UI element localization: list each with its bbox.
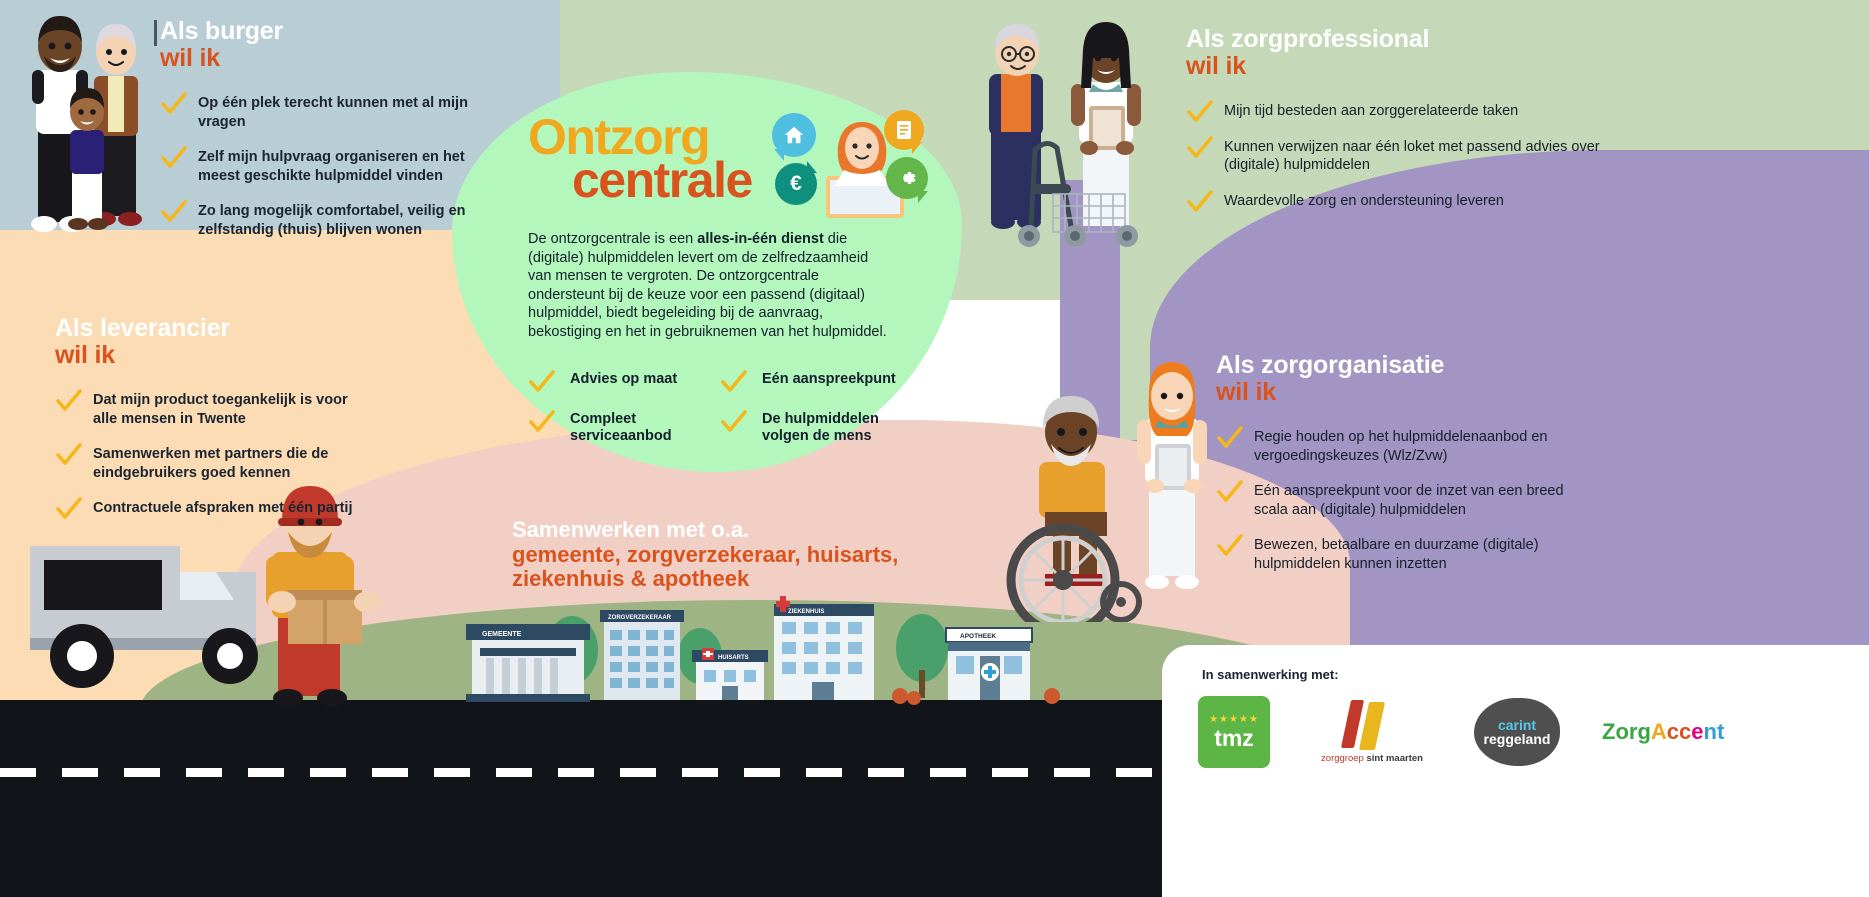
brand-title: Ontzorg centrale — [528, 116, 920, 202]
section-subtitle-text: wil ik — [55, 342, 375, 369]
logo-zorgaccent[interactable]: ZorgAccent — [1602, 697, 1724, 767]
zorgaccent-part-2: A — [1651, 719, 1667, 745]
section-zorgprofessional: Als zorgprofessional wil ik Mijn tijd be… — [1186, 26, 1606, 227]
benefit-label: Eén aanspreekpunt — [762, 371, 896, 387]
euro-icon: € — [790, 172, 802, 196]
check-icon — [55, 443, 83, 467]
section-subtitle-text: wil ik — [160, 45, 490, 72]
leverancier-checklist: Dat mijn product toegankelijk is voor al… — [55, 391, 375, 518]
section-title-zorgorganisatie: Als zorgorganisatie wil ik — [1216, 352, 1596, 406]
tmz-stars: ★★★★★ — [1209, 715, 1259, 725]
list-item: Dat mijn product toegankelijk is voor al… — [55, 391, 375, 428]
sint-maarten-line-2: sint maarten — [1366, 753, 1423, 764]
care-professional-illustration — [975, 20, 1190, 260]
svg-text:ZORGVERZEKERAAR: ZORGVERZEKERAAR — [608, 615, 672, 621]
check-icon — [160, 92, 188, 116]
list-item-label: Dat mijn product toegankelijk is voor al… — [93, 392, 348, 427]
carint-line-1: carint — [1498, 718, 1536, 732]
check-icon — [720, 410, 748, 434]
list-item-label: Mijn tijd besteden aan zorggerelateerde … — [1224, 103, 1518, 119]
svg-text:APOTHEEK: APOTHEEK — [960, 633, 996, 640]
check-icon — [1186, 100, 1214, 124]
list-item-label: Zelf mijn hulpvraag organiseren en het m… — [198, 149, 465, 184]
gear-icon-bubble — [886, 157, 928, 199]
check-icon — [160, 200, 188, 224]
section-title-text: Als zorgorganisatie — [1216, 351, 1444, 379]
check-icon — [1186, 136, 1214, 160]
collaboration-line-1: Samenwerken met o.a. — [512, 518, 942, 543]
home-icon-bubble — [772, 113, 816, 157]
center-benefits-grid: Advies op maat Eén aanspreekpunt Complee… — [528, 371, 920, 445]
partner-bar: In samenwerking met: ★★★★★ tmz zorggroep… — [1162, 645, 1869, 897]
partner-logos: ★★★★★ tmz zorggroep sint maarten carint … — [1198, 697, 1724, 767]
brand-line-2: centrale — [528, 159, 920, 202]
logo-carint-reggeland[interactable]: carint reggeland — [1474, 697, 1560, 767]
central-content: Ontzorg centrale De ontzorgcentrale is e… — [528, 116, 920, 445]
euro-icon-bubble: € — [775, 163, 817, 205]
road-dash — [186, 768, 222, 777]
section-burger: Als burger wil ik Op één plek terecht ku… — [160, 18, 490, 256]
list-item-label: Regie houden op het hulpmiddelenaanbod e… — [1254, 429, 1547, 464]
collaboration-heading: Samenwerken met o.a. gemeente, zorgverze… — [512, 518, 942, 592]
section-title-zorgprofessional: Als zorgprofessional wil ik — [1186, 26, 1606, 80]
section-title-text: Als leverancier — [55, 314, 230, 342]
road-dash — [620, 768, 656, 777]
road-dash — [868, 768, 904, 777]
check-icon — [528, 410, 556, 434]
care-organisation-illustration — [1005, 352, 1225, 622]
list-item: Waardevolle zorg en ondersteuning levere… — [1186, 192, 1606, 211]
list-item: Regie houden op het hulpmiddelenaanbod e… — [1216, 428, 1596, 465]
road-dash — [248, 768, 284, 777]
zorgaccent-part-1: Zorg — [1602, 719, 1651, 745]
list-item: Zelf mijn hulpvraag organiseren en het m… — [160, 148, 490, 185]
section-title-text: Als zorgprofessional — [1186, 25, 1429, 53]
document-icon — [895, 120, 913, 140]
list-item-label: Op één plek terecht kunnen met al mijn v… — [198, 95, 468, 130]
section-leverancier: Als leverancier wil ik Dat mijn product … — [55, 315, 375, 535]
list-item: Samenwerken met partners die de eindgebr… — [55, 445, 375, 482]
benefit-item: Advies op maat — [528, 371, 720, 388]
road-dash — [434, 768, 470, 777]
list-item-label: Waardevolle zorg en ondersteuning levere… — [1224, 193, 1504, 209]
check-icon — [55, 389, 83, 413]
burger-checklist: Op één plek terecht kunnen met al mijn v… — [160, 94, 490, 239]
road-dash — [62, 768, 98, 777]
logo-zorggroep-sint-maarten[interactable]: zorggroep sint maarten — [1312, 697, 1432, 767]
carint-line-2: reggeland — [1484, 732, 1551, 746]
svg-text:ZIEKENHUIS: ZIEKENHUIS — [788, 609, 824, 615]
road-dash — [682, 768, 718, 777]
town-illustration: GEMEENTE ZORGVERZEKERAAR HUISARTS ZIEKEN… — [452, 590, 1072, 712]
section-zorgorganisatie: Als zorgorganisatie wil ik Regie houden … — [1216, 352, 1596, 590]
paragraph-bold: alles-in-één dienst — [697, 231, 824, 247]
check-icon — [1216, 426, 1244, 450]
zorgorganisatie-checklist: Regie houden op het hulpmiddelenaanbod e… — [1216, 428, 1596, 573]
list-item-label: Zo lang mogelijk comfortabel, veilig en … — [198, 203, 466, 238]
benefit-item: De hulpmiddelen volgen de mens — [720, 411, 900, 446]
road-dash — [496, 768, 532, 777]
check-icon — [1186, 190, 1214, 214]
section-title-leverancier: Als leverancier wil ik — [55, 315, 375, 369]
sint-maarten-wordmark: zorggroep sint maarten — [1321, 753, 1423, 764]
title-accent-bar — [154, 20, 157, 46]
sint-maarten-line-1: zorggroep — [1321, 753, 1364, 764]
check-icon — [528, 370, 556, 394]
benefit-item: Compleet serviceaanbod — [528, 411, 720, 446]
check-icon — [160, 146, 188, 170]
list-item-label: Bewezen, betaalbare en duurzame (digital… — [1254, 537, 1539, 572]
partner-caption: In samenwerking met: — [1202, 667, 1339, 682]
gear-icon — [896, 167, 918, 189]
list-item-label: Kunnen verwijzen naar één loket met pass… — [1224, 139, 1600, 174]
road-dash — [992, 768, 1028, 777]
svg-text:GEMEENTE: GEMEENTE — [482, 631, 522, 638]
list-item-label: Contractuele afspraken met één partij — [93, 500, 352, 516]
road-dash — [0, 768, 36, 777]
collaboration-line-3: ziekenhuis & apotheek — [512, 567, 942, 592]
benefit-label: Compleet serviceaanbod — [570, 411, 672, 444]
road-dash — [930, 768, 966, 777]
zorgaccent-part-5: nt — [1704, 719, 1725, 745]
road-dash — [310, 768, 346, 777]
zorgaccent-part-4: e — [1691, 719, 1703, 745]
list-item: Bewezen, betaalbare en duurzame (digital… — [1216, 536, 1596, 573]
svg-text:HUISARTS: HUISARTS — [718, 655, 749, 661]
list-item: Contractuele afspraken met één partij — [55, 499, 375, 518]
home-icon — [783, 124, 805, 146]
paragraph-part-2: die (digitale) hulpmiddelen levert om de… — [528, 231, 887, 340]
benefit-label: De hulpmiddelen volgen de mens — [762, 411, 879, 444]
sint-maarten-mark — [1342, 700, 1402, 750]
list-item: Eén aanspreekpunt voor de inzet van een … — [1216, 482, 1596, 519]
collaboration-line-2: gemeente, zorgverzekeraar, huisarts, — [512, 543, 942, 568]
list-item-label: Eén aanspreekpunt voor de inzet van een … — [1254, 483, 1564, 518]
zorgaccent-part-3: cc — [1667, 719, 1691, 745]
tmz-wordmark: tmz — [1214, 727, 1254, 750]
road-dash — [558, 768, 594, 777]
list-item-label: Samenwerken met partners die de eindgebr… — [93, 446, 328, 481]
family-illustration — [14, 12, 164, 238]
list-item: Kunnen verwijzen naar één loket met pass… — [1186, 138, 1606, 175]
check-icon — [720, 370, 748, 394]
section-title-text: Als burger — [160, 17, 283, 45]
zorgprofessional-checklist: Mijn tijd besteden aan zorggerelateerde … — [1186, 102, 1606, 210]
section-subtitle-text: wil ik — [1186, 53, 1606, 80]
benefit-item: Eén aanspreekpunt — [720, 371, 900, 388]
benefit-label: Advies op maat — [570, 371, 677, 387]
center-paragraph: De ontzorgcentrale is een alles-in-één d… — [528, 230, 888, 341]
logo-tmz[interactable]: ★★★★★ tmz — [1198, 697, 1270, 767]
road-dash — [372, 768, 408, 777]
check-icon — [1216, 480, 1244, 504]
road-dash — [806, 768, 842, 777]
road-dash — [1116, 768, 1152, 777]
road-dash — [124, 768, 160, 777]
list-item: Zo lang mogelijk comfortabel, veilig en … — [160, 202, 490, 239]
list-item: Mijn tijd besteden aan zorggerelateerde … — [1186, 102, 1606, 121]
list-item: Op één plek terecht kunnen met al mijn v… — [160, 94, 490, 131]
check-icon — [1216, 534, 1244, 558]
check-icon — [55, 497, 83, 521]
section-subtitle-text: wil ik — [1216, 379, 1596, 406]
infographic-canvas: GEMEENTE ZORGVERZEKERAAR HUISARTS ZIEKEN… — [0, 0, 1869, 897]
road-dash — [1054, 768, 1090, 777]
road-dash — [744, 768, 780, 777]
document-icon-bubble — [884, 110, 924, 150]
section-title-burger: Als burger wil ik — [160, 18, 490, 72]
paragraph-part-1: De ontzorgcentrale is een — [528, 231, 697, 247]
